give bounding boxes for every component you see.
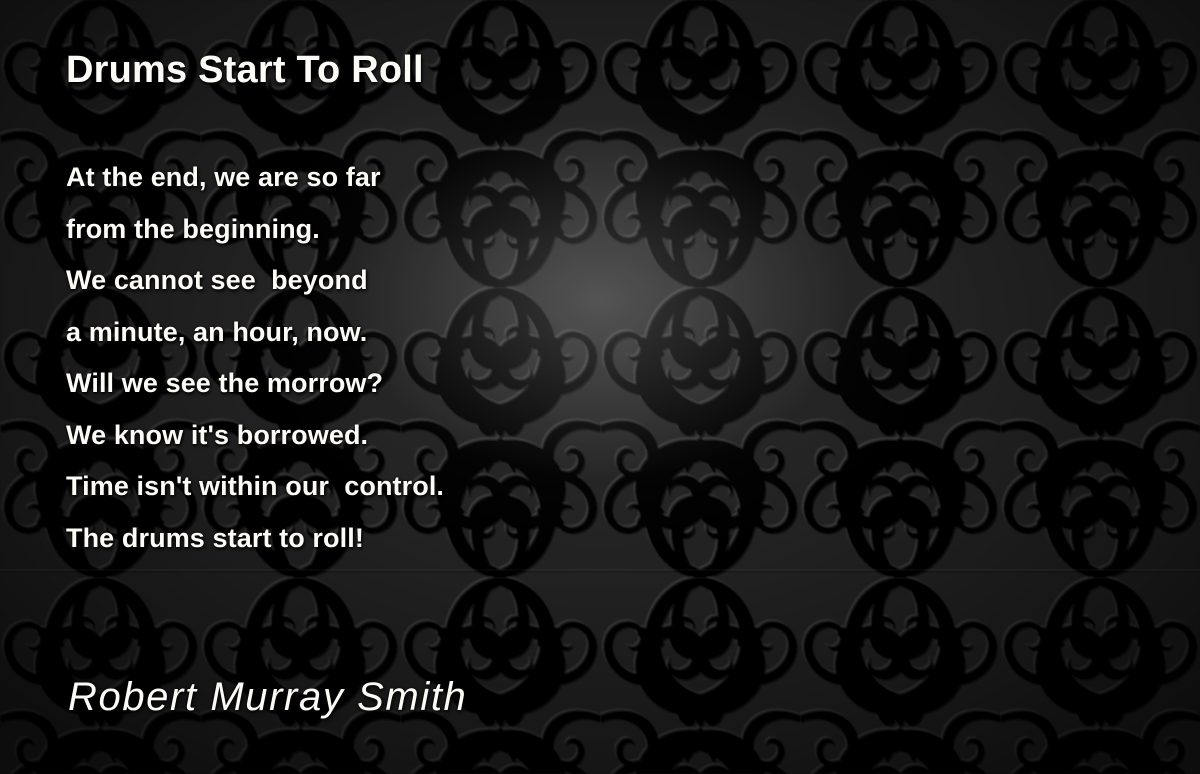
poem-image-card: Drums Start To Roll At the end, we are s… bbox=[0, 0, 1200, 774]
poem-line: At the end, we are so far bbox=[66, 152, 444, 204]
poem-line: We know it's borrowed. bbox=[66, 410, 444, 462]
poem-line: Will we see the morrow? bbox=[66, 358, 444, 410]
poem-line: We cannot see beyond bbox=[66, 255, 444, 307]
poem-line: Time isn't within our control. bbox=[66, 461, 444, 513]
poem-body: At the end, we are so far from the begin… bbox=[66, 152, 444, 564]
poem-line: The drums start to roll! bbox=[66, 513, 444, 565]
poem-author-name: Robert Murray Smith bbox=[68, 675, 467, 719]
poem-line: from the beginning. bbox=[66, 204, 444, 256]
poem-content: Drums Start To Roll At the end, we are s… bbox=[0, 0, 1200, 774]
poem-line: a minute, an hour, now. bbox=[66, 307, 444, 359]
poem-title: Drums Start To Roll bbox=[66, 50, 424, 91]
